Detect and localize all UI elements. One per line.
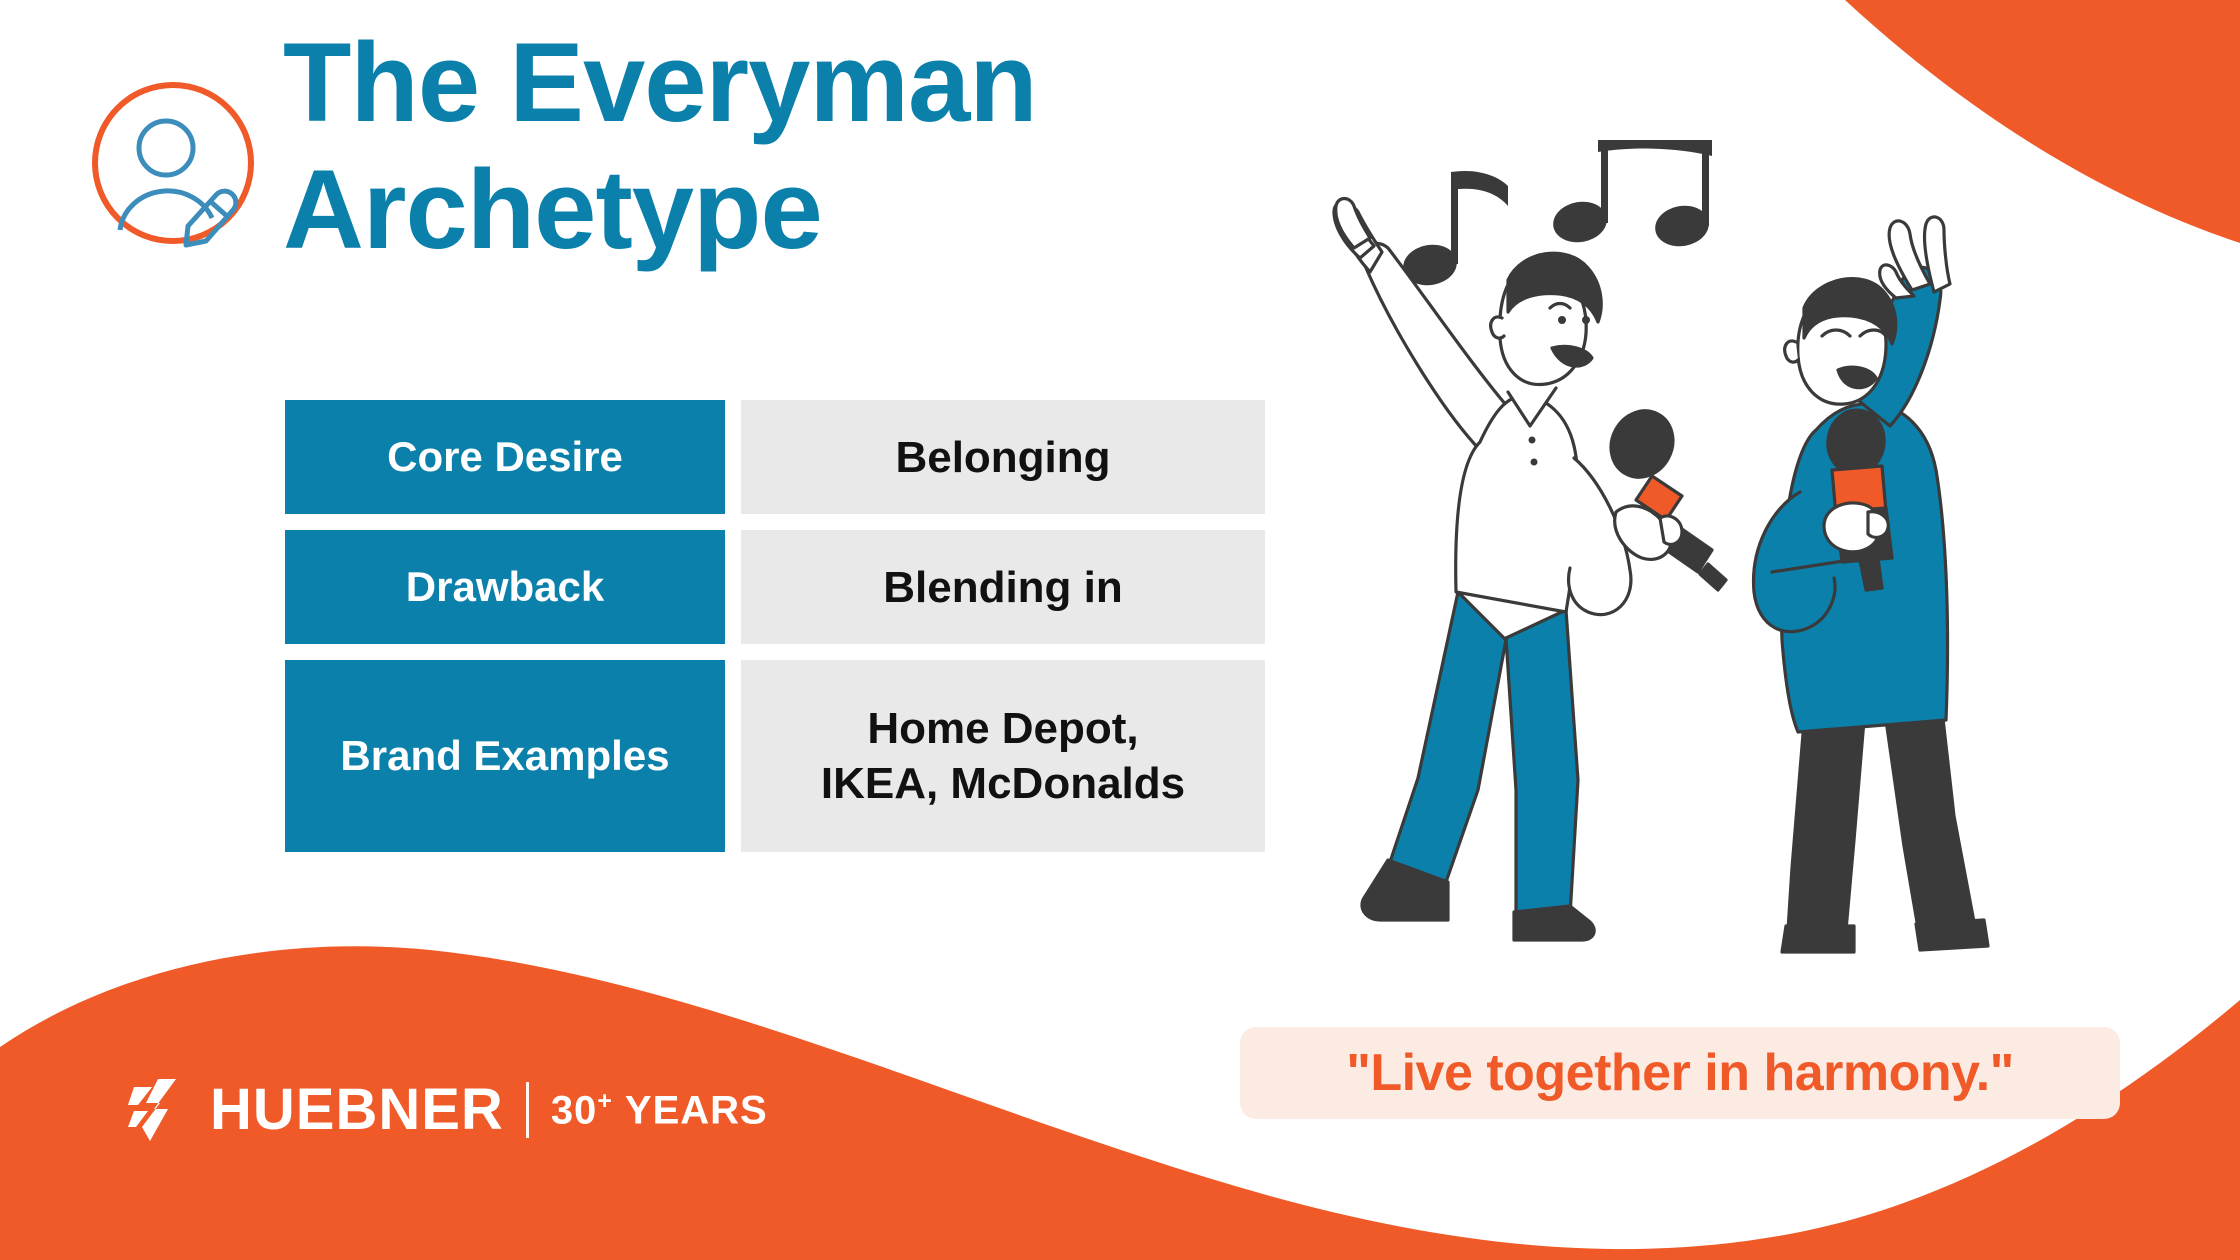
- header: The Everyman Archetype: [0, 0, 1250, 360]
- huebner-mark-icon: [128, 1075, 190, 1145]
- logo-tagline: 30+ YEARS: [551, 1090, 768, 1130]
- logo-divider: [526, 1082, 529, 1138]
- figure-left-singer: [1334, 199, 1726, 941]
- logo-wordmark: HUEBNER: [210, 1081, 504, 1139]
- table-row: Drawback Blending in: [285, 530, 1285, 644]
- attribute-key-drawback: Drawback: [285, 530, 725, 644]
- brand-logo-lockup[interactable]: HUEBNER 30+ YEARS: [128, 1075, 768, 1145]
- quote-text: "Live together in harmony.": [1346, 1043, 2014, 1103]
- archetype-attributes-table: Core Desire Belonging Drawback Blending …: [285, 400, 1285, 868]
- infographic-canvas: The Everyman Archetype Core Desire Belon…: [0, 0, 2240, 1260]
- table-row: Brand Examples Home Depot, IKEA, McDonal…: [285, 660, 1285, 852]
- logo-tagline-superscript: +: [597, 1088, 612, 1115]
- page-title: The Everyman Archetype: [283, 20, 1233, 273]
- quote-box: "Live together in harmony.": [1240, 1027, 2120, 1119]
- user-edit-icon: [88, 78, 258, 248]
- logo-tagline-number: 30: [551, 1088, 598, 1132]
- table-row: Core Desire Belonging: [285, 400, 1285, 514]
- attribute-value-core-desire: Belonging: [741, 400, 1265, 514]
- music-note-icon: [1400, 171, 1508, 289]
- attribute-key-core-desire: Core Desire: [285, 400, 725, 514]
- attribute-value-drawback: Blending in: [741, 530, 1265, 644]
- music-note-beamed-icon: [1550, 140, 1712, 250]
- logo-tagline-word: YEARS: [625, 1088, 768, 1132]
- attribute-value-brand-examples: Home Depot, IKEA, McDonalds: [741, 660, 1265, 852]
- two-people-singing-illustration: [1330, 140, 2170, 970]
- figure-right-singer: [1754, 217, 1988, 952]
- attribute-key-brand-examples: Brand Examples: [285, 660, 725, 852]
